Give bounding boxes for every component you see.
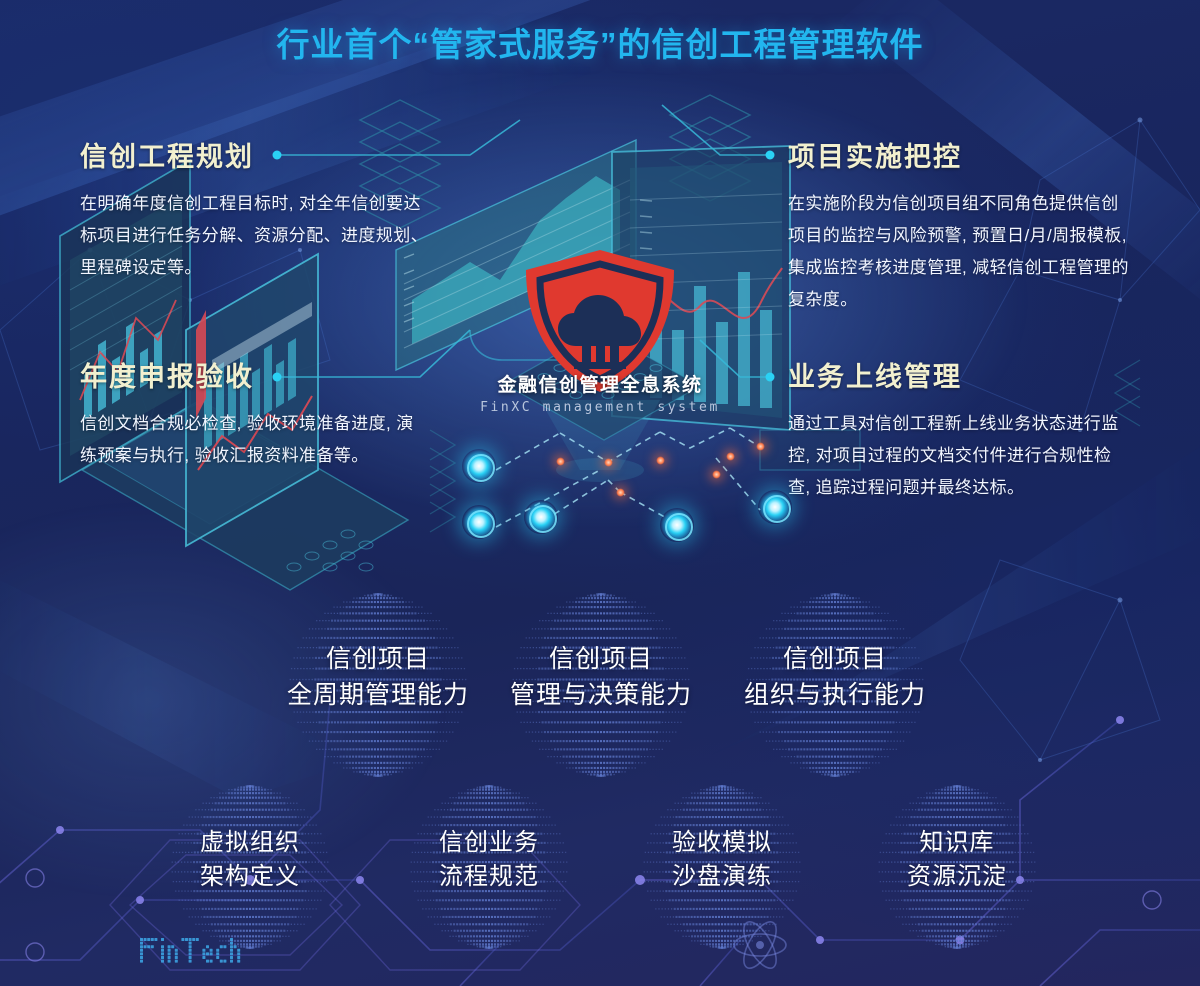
center-system-label: 金融信创管理全息系统 FinXC management system xyxy=(0,370,1200,415)
caption-line-1: 信创项目 xyxy=(283,642,473,678)
feature-body-declare: 信创文档合规必检查, 验收环境准备进度, 演练预案与执行, 验收汇报资料准备等。 xyxy=(80,408,430,472)
module-sphere: 知识库 资源沉淀 xyxy=(872,782,1042,952)
capability-sphere: 信创项目 管理与决策能力 xyxy=(506,590,696,780)
network-dot xyxy=(726,452,735,461)
network-node xyxy=(758,490,792,524)
module-sphere-caption: 信创业务 流程规范 xyxy=(404,826,574,894)
caption-line-1: 知识库 xyxy=(872,826,1042,860)
network-dot xyxy=(616,488,625,497)
feature-block-plan: 信创工程规划 在明确年度信创工程目标时, 对全年信创要达标项目进行任务分解、资源… xyxy=(80,135,430,284)
system-name-cn: 金融信创管理全息系统 xyxy=(0,370,1200,397)
feature-body-online: 通过工具对信创工程新上线业务状态进行监控, 对项目过程的文档交付件进行合规性检查… xyxy=(788,408,1133,504)
feature-body-impl: 在实施阶段为信创项目组不同角色提供信创项目的监控与风险预警, 预置日/月/周报模… xyxy=(788,188,1133,316)
feature-body-plan: 在明确年度信创工程目标时, 对全年信创要达标项目进行任务分解、资源分配、进度规划… xyxy=(80,188,430,284)
feature-block-impl: 项目实施把控 在实施阶段为信创项目组不同角色提供信创项目的监控与风险预警, 预置… xyxy=(788,135,1133,316)
network-dot xyxy=(712,470,721,479)
network-node xyxy=(660,508,694,542)
capability-sphere-caption: 信创项目 组织与执行能力 xyxy=(740,642,930,713)
capability-sphere-caption: 信创项目 全周期管理能力 xyxy=(283,642,473,713)
hatch-left xyxy=(430,430,455,532)
module-sphere: 信创业务 流程规范 xyxy=(404,782,574,952)
caption-line-1: 信创项目 xyxy=(506,642,696,678)
caption-line-2: 流程规范 xyxy=(404,860,574,894)
capability-sphere: 信创项目 全周期管理能力 xyxy=(283,590,473,780)
page-title: 行业首个“管家式服务”的信创工程管理软件 xyxy=(0,18,1200,66)
caption-line-2: 沙盘演练 xyxy=(637,860,807,894)
network-node xyxy=(524,500,558,534)
network-dot xyxy=(556,457,565,466)
caption-line-1: 信创业务 xyxy=(404,826,574,860)
caption-line-2: 资源沉淀 xyxy=(872,860,1042,894)
network-dot xyxy=(756,442,765,451)
network-node xyxy=(462,449,496,483)
fintech-watermark xyxy=(138,930,328,976)
system-name-en: FinXC management system xyxy=(0,400,1200,415)
network-dot xyxy=(604,458,613,467)
network-node xyxy=(462,505,496,539)
infographic-canvas: 行业首个“管家式服务”的信创工程管理软件 信创工程规划 在明确年度信创工程目标时… xyxy=(0,0,1200,986)
caption-line-1: 信创项目 xyxy=(740,642,930,678)
caption-line-2: 架构定义 xyxy=(165,860,335,894)
module-sphere-caption: 知识库 资源沉淀 xyxy=(872,826,1042,894)
feature-heading-plan: 信创工程规划 xyxy=(80,135,430,174)
caption-line-1: 验收模拟 xyxy=(637,826,807,860)
module-sphere-caption: 验收模拟 沙盘演练 xyxy=(637,826,807,894)
module-sphere: 验收模拟 沙盘演练 xyxy=(637,782,807,952)
capability-sphere-caption: 信创项目 管理与决策能力 xyxy=(506,642,696,713)
diamond-stack-right xyxy=(670,95,750,201)
capability-sphere: 信创项目 组织与执行能力 xyxy=(740,590,930,780)
network-dot xyxy=(656,456,665,465)
caption-line-2: 管理与决策能力 xyxy=(506,678,696,714)
module-sphere: 虚拟组织 架构定义 xyxy=(165,782,335,952)
caption-line-1: 虚拟组织 xyxy=(165,826,335,860)
caption-line-2: 全周期管理能力 xyxy=(283,678,473,714)
feature-heading-impl: 项目实施把控 xyxy=(788,135,1133,174)
module-sphere-caption: 虚拟组织 架构定义 xyxy=(165,826,335,894)
caption-line-2: 组织与执行能力 xyxy=(740,678,930,714)
